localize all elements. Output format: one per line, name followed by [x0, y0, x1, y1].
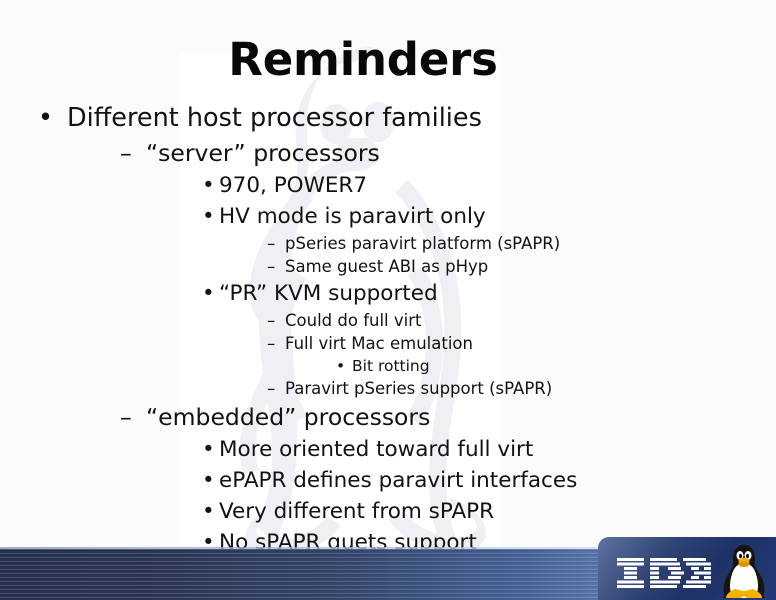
bullet-marker: •	[202, 434, 215, 465]
presentation-slide: Reminders •Different host processor fami…	[0, 0, 776, 600]
bullet-marker: •	[202, 278, 215, 309]
bullet-line-level-3: •Very different from sPAPR	[0, 496, 776, 527]
ibm-logo-icon	[616, 557, 714, 591]
bullet-marker: •	[202, 170, 215, 201]
bullet-marker: –	[267, 232, 275, 255]
bullet-marker: •	[336, 355, 345, 377]
bullet-marker: •	[202, 496, 215, 527]
bullet-text: HV mode is paravirt only	[219, 201, 486, 232]
bullet-text: pSeries paravirt platform (sPAPR)	[285, 232, 560, 255]
bullet-line-level-3: •970, POWER7	[0, 170, 776, 201]
bullet-text: “PR” KVM supported	[219, 278, 438, 309]
bullet-text: 970, POWER7	[219, 170, 367, 201]
bullet-line-level-3: •ePAPR defines paravirt interfaces	[0, 465, 776, 496]
bullet-text: Very different from sPAPR	[219, 496, 494, 527]
page-title: Reminders	[0, 36, 726, 83]
bullet-marker: •	[202, 465, 215, 496]
bullet-line-level-4: –pSeries paravirt platform (sPAPR)	[0, 232, 776, 255]
bullet-line-level-3: •HV mode is paravirt only	[0, 201, 776, 232]
bullet-marker: –	[267, 255, 275, 278]
bullet-marker: –	[120, 136, 132, 170]
bullet-line-level-4: –Full virt Mac emulation	[0, 332, 776, 355]
bullet-list: •Different host processor families–“serv…	[0, 100, 776, 558]
bullet-text: Paravirt pSeries support (sPAPR)	[285, 377, 552, 400]
bullet-marker: –	[267, 309, 275, 332]
bullet-text: “embedded” processors	[146, 400, 430, 434]
bullet-marker: •	[202, 201, 215, 232]
bullet-marker: –	[120, 400, 132, 434]
bullet-text: Different host processor families	[67, 100, 482, 136]
bullet-text: Same guest ABI as pHyp	[285, 255, 488, 278]
bullet-line-level-3: •“PR” KVM supported	[0, 278, 776, 309]
bullet-line-level-4: –Could do full virt	[0, 309, 776, 332]
bullet-text: “server” processors	[146, 136, 380, 170]
footer-logo-panel	[598, 537, 776, 600]
tux-penguin-logo-icon	[722, 543, 766, 598]
bullet-line-level-4: –Paravirt pSeries support (sPAPR)	[0, 377, 776, 400]
bullet-text: Could do full virt	[285, 309, 421, 332]
bullet-text: ePAPR defines paravirt interfaces	[219, 465, 577, 496]
bullet-line-level-5: •Bit rotting	[0, 355, 776, 377]
bullet-line-level-3: •More oriented toward full virt	[0, 434, 776, 465]
bullet-text: Bit rotting	[352, 355, 430, 377]
bullet-line-level-2: –“embedded” processors	[0, 400, 776, 434]
bullet-marker: –	[267, 332, 275, 355]
bullet-marker: •	[38, 100, 53, 136]
bullet-line-level-4: –Same guest ABI as pHyp	[0, 255, 776, 278]
bullet-text: More oriented toward full virt	[219, 434, 533, 465]
bullet-line-level-1: •Different host processor families	[0, 100, 776, 136]
bullet-text: Full virt Mac emulation	[285, 332, 473, 355]
bullet-line-level-2: –“server” processors	[0, 136, 776, 170]
bullet-marker: –	[267, 377, 275, 400]
